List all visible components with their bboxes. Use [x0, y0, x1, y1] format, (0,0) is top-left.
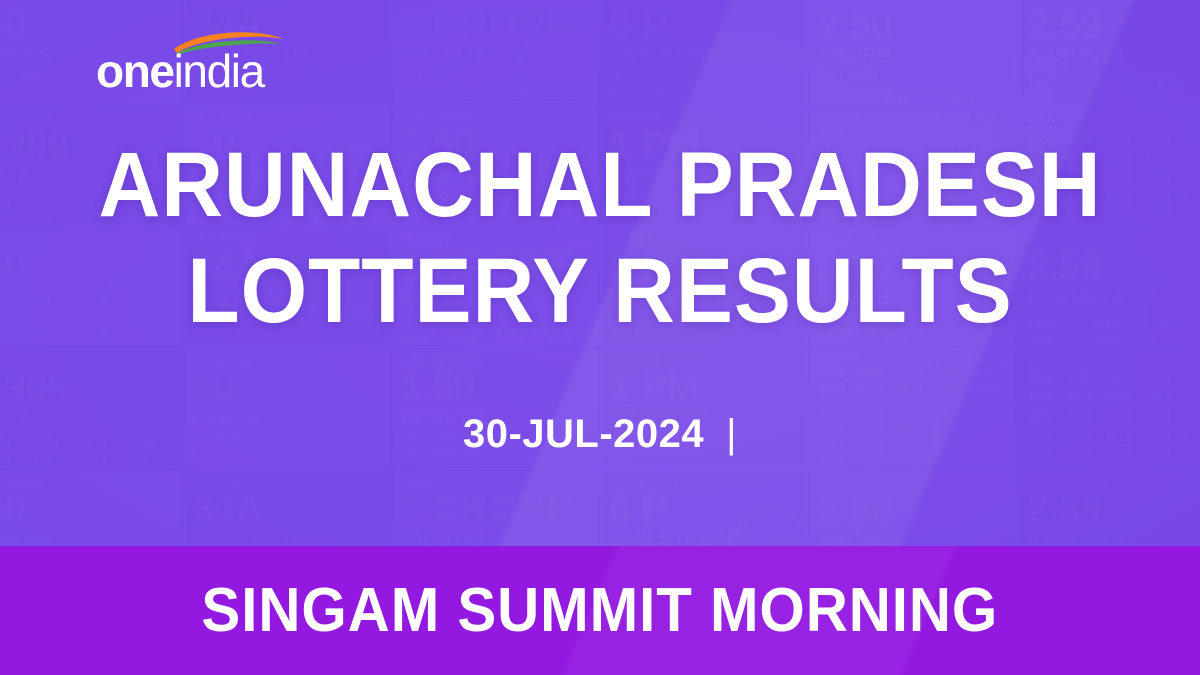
- date-separator: |: [726, 412, 737, 457]
- logo-text-one: one: [96, 45, 174, 97]
- lottery-name-banner: SINGAM SUMMIT MORNING: [0, 546, 1200, 675]
- oneindia-logo[interactable]: oneindia: [96, 28, 296, 96]
- logo-wordmark: oneindia: [96, 48, 264, 94]
- result-date-row: 30-JUL-2024|: [0, 412, 1200, 457]
- page-title-line-2: LOTTERY RESULTS: [42, 238, 1158, 344]
- page-title-line-1: ARUNACHAL PRADESH: [42, 132, 1158, 238]
- lottery-result-banner: 50 LAKHS50LAKHS1st2ndDEAR LOTTERY1st PRI…: [0, 0, 1200, 675]
- lottery-name: SINGAM SUMMIT MORNING: [202, 580, 999, 642]
- page-title: ARUNACHAL PRADESH LOTTERY RESULTS: [0, 132, 1200, 344]
- logo-text-india: india: [174, 45, 264, 97]
- result-date: 30-JUL-2024: [463, 412, 704, 456]
